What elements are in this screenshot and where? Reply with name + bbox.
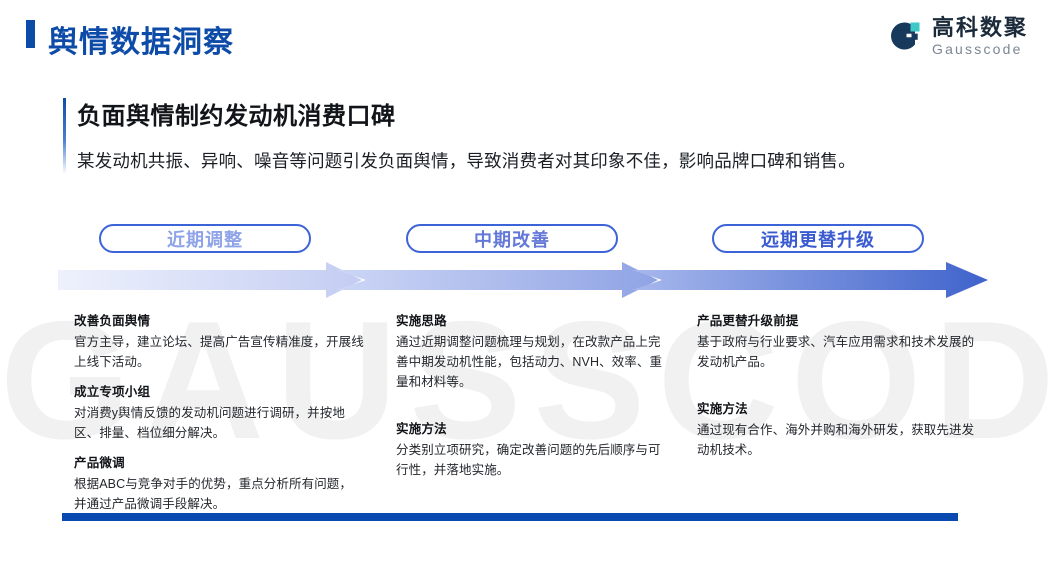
page-title: 舆情数据洞察: [48, 17, 234, 61]
content-block: 实施方法 分类别立项研究，确定改善问题的先后顺序与可行性，并落地实施。: [396, 418, 666, 480]
lead-subtitle: 某发动机共振、异响、噪音等问题引发负面舆情，导致消费者对其印象不佳，影响品牌口碑…: [77, 148, 983, 173]
content-block: 产品更替升级前提 基于政府与行业要求、汽车应用需求和技术发展的发动机产品。: [697, 310, 977, 372]
block-body: 官方主导，建立论坛、提高广告宣传精准度，开展线上线下活动。: [74, 332, 364, 372]
content-columns: 改善负面舆情 官方主导，建立论坛、提高广告宣传精准度，开展线上线下活动。 成立专…: [0, 310, 1050, 500]
footer-bar: [62, 513, 958, 521]
block-body: 基于政府与行业要求、汽车应用需求和技术发展的发动机产品。: [697, 332, 977, 372]
block-body: 根据ABC与竞争对手的优势，重点分析所有问题，并通过产品微调手段解决。: [74, 474, 364, 514]
block-body: 通过近期调整问题梳理与规划，在改款产品上完善中期发动机性能，包括动力、NVH、效…: [396, 332, 666, 392]
timeline-arrow: [58, 262, 992, 298]
block-body: 分类别立项研究，确定改善问题的先后顺序与可行性，并落地实施。: [396, 440, 666, 480]
phase-pill-long-term[interactable]: 远期更替升级: [712, 224, 924, 253]
phase-pill-mid-term[interactable]: 中期改善: [406, 224, 618, 253]
block-title: 成立专项小组: [74, 381, 364, 400]
block-title: 实施方法: [396, 418, 666, 437]
phase-pill-row: 近期调整 中期改善 远期更替升级: [0, 224, 1050, 254]
slide-root: GAUSSCODE 舆情数据洞察 高科数聚 Gausscode 负面舆情制约发动…: [0, 0, 1050, 588]
block-body: 对消费y舆情反馈的发动机问题进行调研，并按地区、排量、档位细分解决。: [74, 403, 364, 443]
lead-block: 负面舆情制约发动机消费口碑 某发动机共振、异响、噪音等问题引发负面舆情，导致消费…: [63, 96, 983, 173]
logo-wordmark: 高科数聚 Gausscode: [932, 17, 1028, 56]
block-title: 产品微调: [74, 452, 364, 471]
gausscode-logo-icon: [884, 16, 924, 56]
column-mid-term: 实施思路 通过近期调整问题梳理与规划，在改款产品上完善中期发动机性能，包括动力、…: [396, 310, 666, 489]
content-block: 实施思路 通过近期调整问题梳理与规划，在改款产品上完善中期发动机性能，包括动力、…: [396, 310, 666, 392]
column-long-term: 产品更替升级前提 基于政府与行业要求、汽车应用需求和技术发展的发动机产品。 实施…: [697, 310, 977, 469]
content-block: 产品微调 根据ABC与竞争对手的优势，重点分析所有问题，并通过产品微调手段解决。: [74, 452, 364, 514]
block-title: 产品更替升级前提: [697, 310, 977, 329]
lead-accent-bar: [63, 98, 66, 174]
logo-name-cn: 高科数聚: [932, 17, 1028, 39]
content-block: 成立专项小组 对消费y舆情反馈的发动机问题进行调研，并按地区、排量、档位细分解决…: [74, 381, 364, 443]
block-title: 改善负面舆情: [74, 310, 364, 329]
logo-name-en: Gausscode: [932, 42, 1028, 56]
phase-pill-near-term[interactable]: 近期调整: [99, 224, 311, 253]
slide-header: 舆情数据洞察 高科数聚 Gausscode: [0, 0, 1050, 72]
block-body: 通过现有合作、海外并购和海外研发，获取先进发动机技术。: [697, 420, 977, 460]
lead-heading: 负面舆情制约发动机消费口碑: [77, 96, 983, 131]
brand-logo: 高科数聚 Gausscode: [884, 14, 1028, 58]
column-near-term: 改善负面舆情 官方主导，建立论坛、提高广告宣传精准度，开展线上线下活动。 成立专…: [74, 310, 364, 523]
content-block: 实施方法 通过现有合作、海外并购和海外研发，获取先进发动机技术。: [697, 398, 977, 460]
content-block: 改善负面舆情 官方主导，建立论坛、提高广告宣传精准度，开展线上线下活动。: [74, 310, 364, 372]
title-marker: [26, 20, 35, 48]
block-title: 实施方法: [697, 398, 977, 417]
block-title: 实施思路: [396, 310, 666, 329]
